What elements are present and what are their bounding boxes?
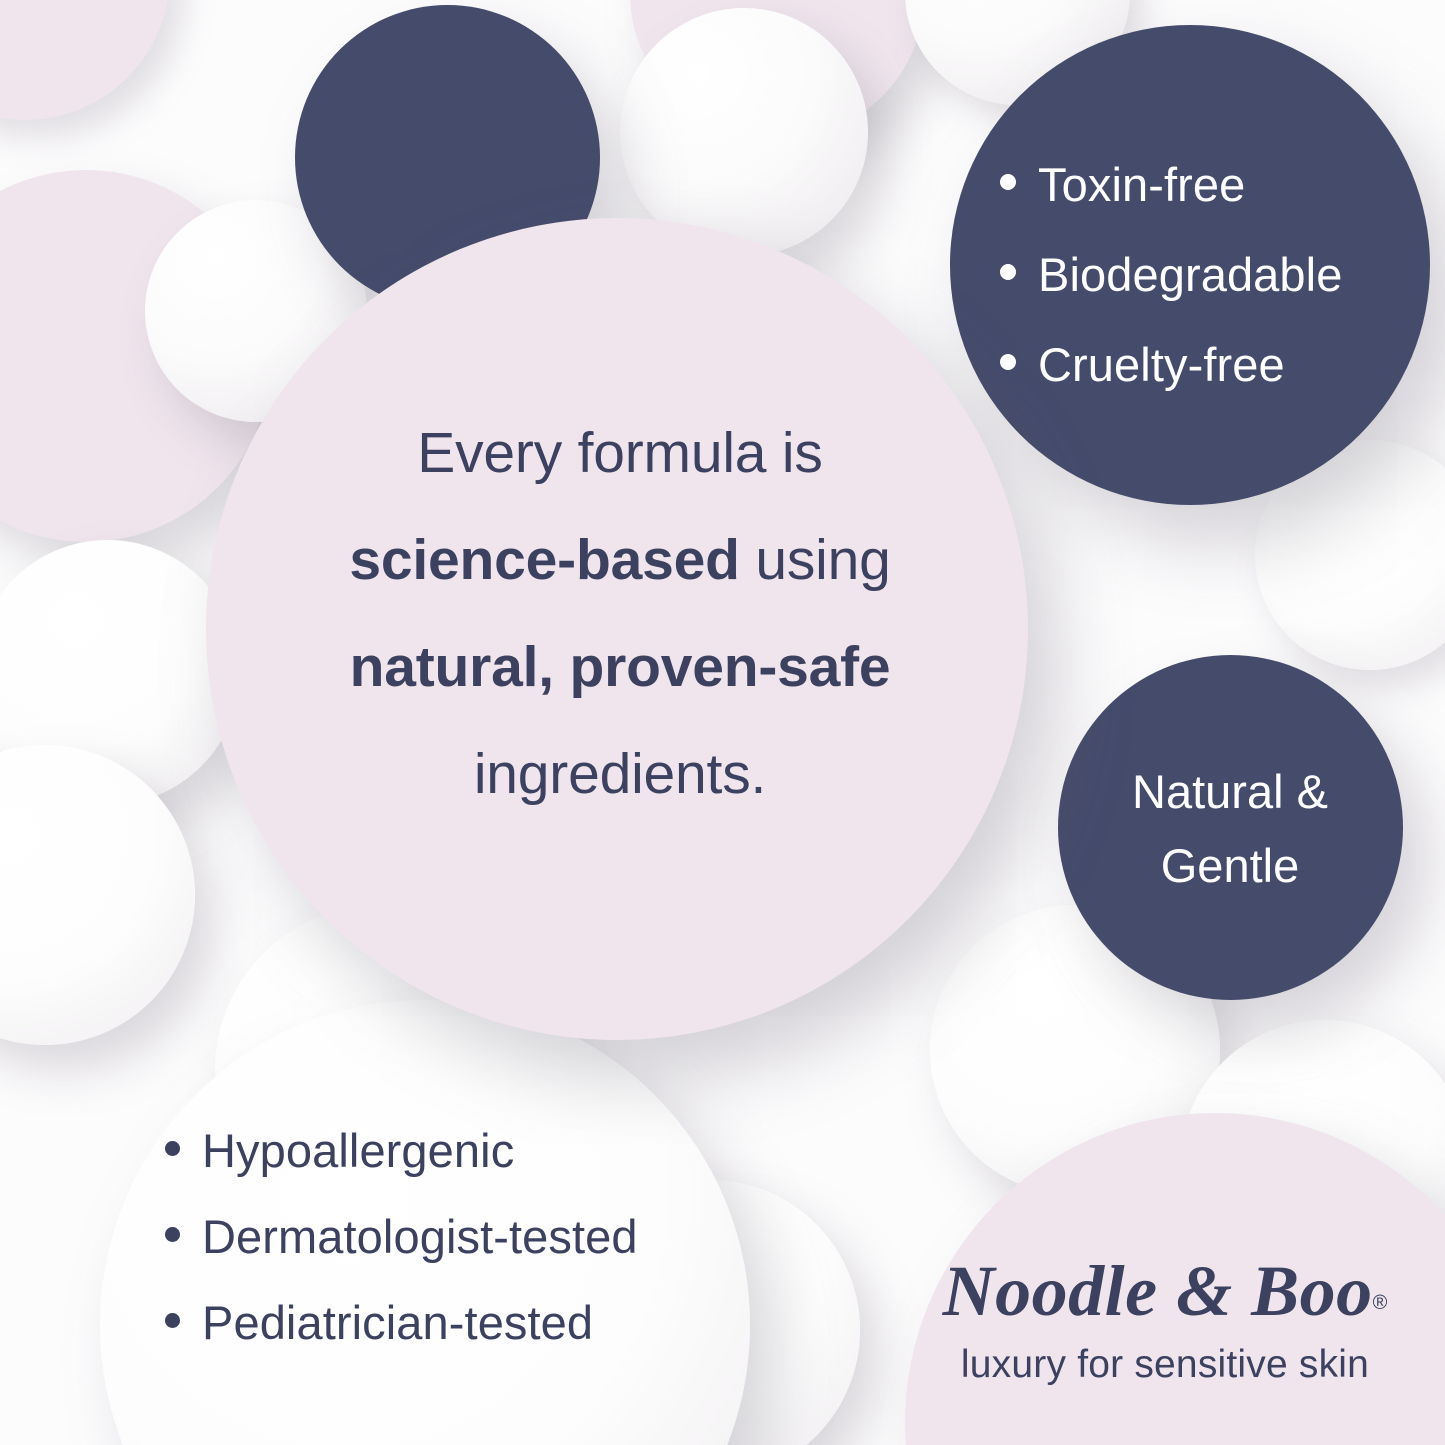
tested-list-item: Hypoallergenic — [165, 1108, 765, 1194]
natural-gentle-line-2: Gentle — [1075, 829, 1385, 903]
tested-list-item-label: Hypoallergenic — [202, 1108, 514, 1194]
bullet-dot-icon — [165, 1141, 180, 1156]
bullet-dot-icon — [1000, 174, 1016, 190]
main-statement-line-3: natural, proven-safe — [300, 614, 940, 721]
natural-gentle-line-1: Natural & — [1075, 755, 1385, 829]
brand-wordmark: Noodle & Boo® — [930, 1255, 1400, 1327]
toxin-list-item: Biodegradable — [1000, 230, 1420, 320]
registered-trademark-icon: ® — [1373, 1292, 1388, 1314]
bullet-dot-icon — [1000, 264, 1016, 280]
main-statement-line-1: Every formula is — [300, 400, 940, 507]
main-statement-emphasis-science: science-based — [349, 528, 739, 592]
decor-circle-white-top — [620, 8, 868, 256]
brand-wordmark-text: Noodle & Boo — [943, 1251, 1373, 1331]
toxin-list-item-label: Toxin-free — [1038, 140, 1245, 230]
main-statement-emphasis-natural: natural, proven-safe — [350, 635, 891, 699]
toxin-list-item: Toxin-free — [1000, 140, 1420, 230]
tested-list-item-label: Pediatrician-tested — [202, 1280, 593, 1366]
brand-logo: Noodle & Boo® luxury for sensitive skin — [930, 1255, 1400, 1387]
bullet-dot-icon — [1000, 354, 1016, 370]
brand-tagline: luxury for sensitive skin — [930, 1343, 1400, 1387]
tested-list-item: Dermatologist-tested — [165, 1194, 765, 1280]
decor-circle-pink-topleft-2 — [0, 0, 170, 120]
tested-list: Hypoallergenic Dermatologist-tested Pedi… — [165, 1108, 765, 1366]
bullet-dot-icon — [165, 1313, 180, 1328]
toxin-list: Toxin-free Biodegradable Cruelty-free — [1000, 140, 1420, 410]
bullet-dot-icon — [165, 1227, 180, 1242]
toxin-list-item-label: Biodegradable — [1038, 230, 1342, 320]
infographic-canvas: Toxin-free Biodegradable Cruelty-free Hy… — [0, 0, 1445, 1445]
natural-gentle-text: Natural & Gentle — [1075, 755, 1385, 903]
main-statement-line-2-rest: using — [740, 528, 891, 592]
toxin-list-item-label: Cruelty-free — [1038, 320, 1285, 410]
tested-list-item: Pediatrician-tested — [165, 1280, 765, 1366]
main-statement-line-4: ingredients. — [300, 721, 940, 828]
main-statement-line-2: science-based using — [300, 507, 940, 614]
tested-list-item-label: Dermatologist-tested — [202, 1194, 638, 1280]
main-statement: Every formula is science-based using nat… — [300, 400, 940, 828]
toxin-list-item: Cruelty-free — [1000, 320, 1420, 410]
